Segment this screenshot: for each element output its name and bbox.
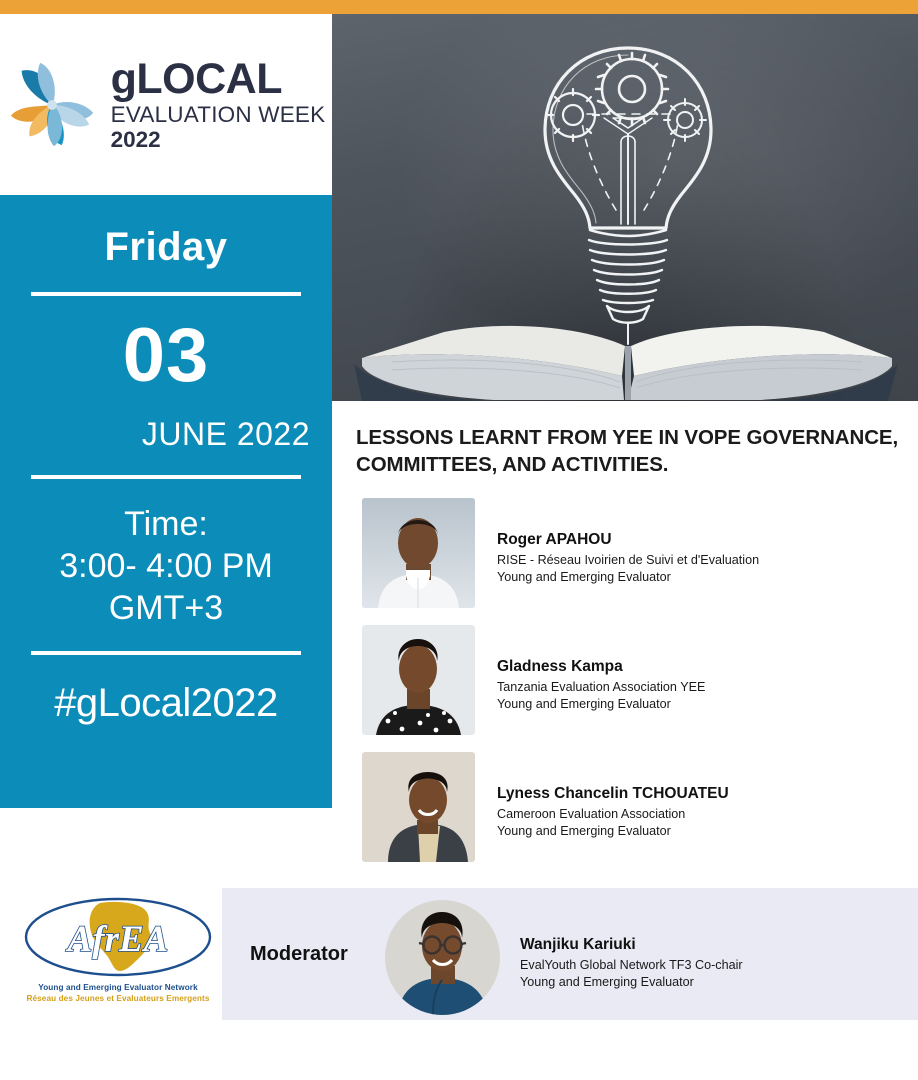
speaker-name: Lyness Chancelin TCHOUATEU: [497, 785, 729, 804]
speaker-role: Young and Emerging Evaluator: [497, 696, 705, 713]
speaker-row: Gladness Kampa Tanzania Evaluation Assoc…: [362, 625, 705, 735]
moderator-role: Young and Emerging Evaluator: [520, 974, 743, 991]
moderator-name: Wanjiku Kariuki: [520, 936, 743, 955]
time-label: Time:: [0, 503, 332, 545]
afrea-logo: AfrEA Young and Emerging Evaluator Netwo…: [22, 895, 214, 1013]
speaker-organization: Cameroon Evaluation Association: [497, 806, 729, 823]
moderator-organization: EvalYouth Global Network TF3 Co-chair: [520, 957, 743, 974]
speaker-name: Gladness Kampa: [497, 658, 705, 677]
hero-image: [332, 14, 918, 401]
moderator-info: Wanjiku Kariuki EvalYouth Global Network…: [520, 936, 743, 991]
event-flyer: gLOCAL EVALUATION WEEK 2022 Friday 03 JU…: [0, 0, 918, 1080]
speaker-info-1: Roger APAHOU RISE - Réseau Ivoirien de S…: [497, 498, 759, 586]
speaker-row: Roger APAHOU RISE - Réseau Ivoirien de S…: [362, 498, 759, 608]
logo-subtitle: EVALUATION WEEK: [111, 104, 326, 127]
divider-bottom: [31, 651, 301, 655]
date-time-panel: Friday 03 JUNE 2022 Time: 3:00- 4:00 PM …: [0, 195, 332, 808]
event-hashtag: #gLocal2022: [0, 681, 332, 726]
speaker-organization: Tanzania Evaluation Association YEE: [497, 679, 705, 696]
speaker-photo-3: [362, 752, 475, 862]
afrea-emblem-icon: AfrEA: [22, 895, 214, 981]
moderator-photo: [385, 900, 500, 1015]
speaker-info-3: Lyness Chancelin TCHOUATEU Cameroon Eval…: [497, 752, 729, 840]
lightbulb-gears-book-icon: [332, 14, 918, 401]
time-range: 3:00- 4:00 PM: [0, 545, 332, 587]
speaker-role: Young and Emerging Evaluator: [497, 569, 759, 586]
svg-text:AfrEA: AfrEA: [66, 919, 169, 960]
speaker-photo-2: [362, 625, 475, 735]
divider-middle: [31, 475, 301, 479]
afrea-tagline-fr: Réseau des Jeunes et Evaluateurs Emergen…: [22, 994, 214, 1003]
day-name: Friday: [0, 225, 332, 270]
speaker-role: Young and Emerging Evaluator: [497, 823, 729, 840]
speaker-organization: RISE - Réseau Ivoirien de Suivi et d'Eva…: [497, 552, 759, 569]
top-accent-bar: [0, 0, 918, 14]
moderator-label: Moderator: [250, 943, 348, 966]
logo-year: 2022: [111, 129, 326, 152]
afrea-tagline-en: Young and Emerging Evaluator Network: [22, 983, 214, 992]
speaker-photo-1: [362, 498, 475, 608]
month-year: JUNE 2022: [0, 416, 332, 453]
glocal-logo-block: gLOCAL EVALUATION WEEK 2022: [0, 14, 332, 195]
speaker-info-2: Gladness Kampa Tanzania Evaluation Assoc…: [497, 625, 705, 713]
session-title: LESSONS LEARNT FROM YEE IN VOPE GOVERNAN…: [356, 424, 912, 478]
logo-title: gLOCAL: [111, 58, 326, 101]
speaker-name: Roger APAHOU: [497, 531, 759, 550]
speaker-row: Lyness Chancelin TCHOUATEU Cameroon Eval…: [362, 752, 729, 862]
time-zone: GMT+3: [0, 587, 332, 629]
day-number: 03: [0, 318, 332, 394]
divider-top: [31, 292, 301, 296]
glocal-pinwheel-icon: [3, 56, 101, 154]
time-block: Time: 3:00- 4:00 PM GMT+3: [0, 503, 332, 629]
